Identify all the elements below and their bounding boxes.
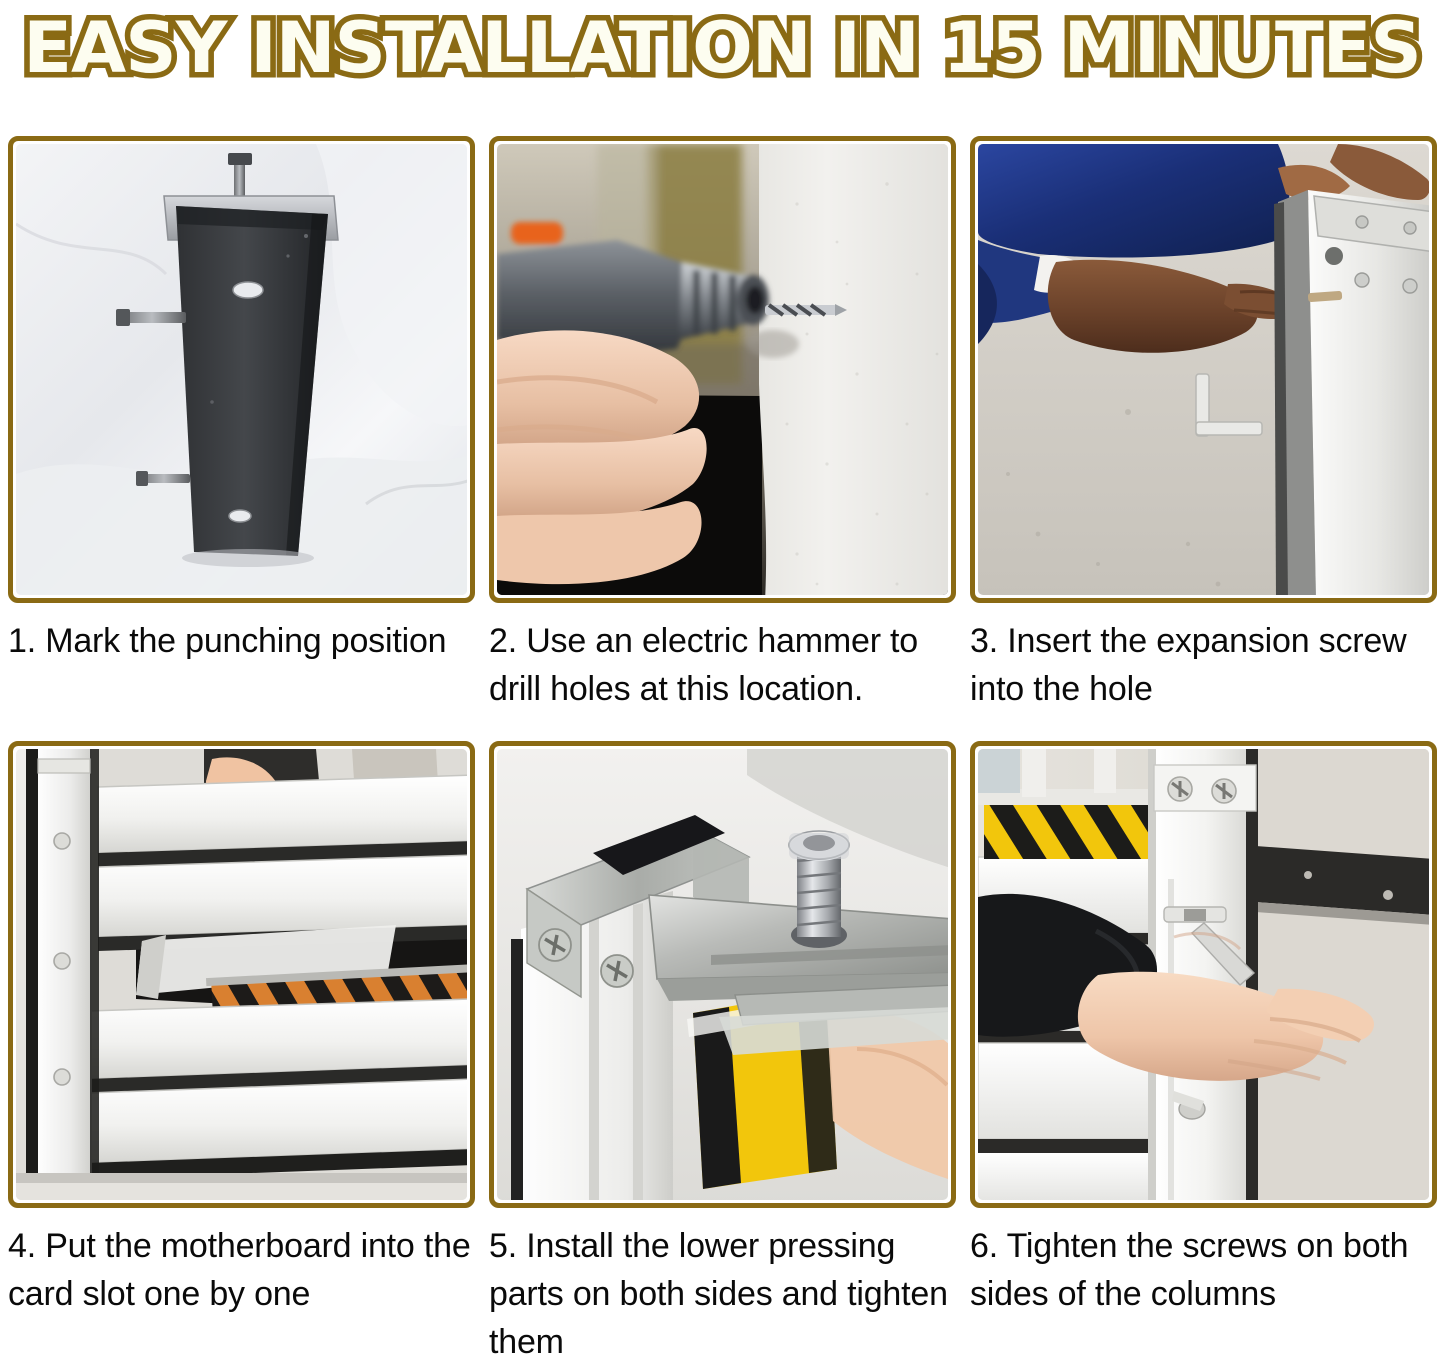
step-caption-2: 2. Use an electric hammer to drill holes… [489,617,956,713]
step-card-4: 4. Put the motherboard into the card slo… [8,741,475,1366]
step-caption-3: 3. Insert the expansion screw into the h… [970,617,1437,713]
scene-card-slot [16,749,467,1200]
step-card-1: 1. Mark the punching position [8,136,475,713]
step-caption-1: 1. Mark the punching position [8,617,475,665]
scene-tighten-screws [978,749,1429,1200]
steps-grid: 1. Mark the punching position [8,136,1437,1366]
step-card-2: 2. Use an electric hammer to drill holes… [489,136,956,713]
step-caption-5: 5. Install the lower pressing parts on b… [489,1222,956,1366]
step-card-3: 3. Insert the expansion screw into the h… [970,136,1437,713]
steps-row-bottom: 4. Put the motherboard into the card slo… [8,741,1437,1366]
scene-drill-holes [497,144,948,595]
step-photo-2 [489,136,956,603]
step-photo-6 [970,741,1437,1208]
step-photo-3 [970,136,1437,603]
step-caption-4: 4. Put the motherboard into the card slo… [8,1222,475,1318]
steps-row-top: 1. Mark the punching position [8,136,1437,713]
step-photo-4 [8,741,475,1208]
page-title: EASY INSTALLATION IN 15 MINUTES [24,12,1421,84]
scene-pressing-parts [497,749,948,1200]
step-card-5: 5. Install the lower pressing parts on b… [489,741,956,1366]
step-card-6: 6. Tighten the screws on both sides of t… [970,741,1437,1366]
step-caption-6: 6. Tighten the screws on both sides of t… [970,1222,1437,1318]
page-title-banner: EASY INSTALLATION IN 15 MINUTES [0,0,1445,96]
step-photo-1 [8,136,475,603]
scene-expansion-screw [978,144,1429,595]
step-photo-5 [489,741,956,1208]
installation-guide-page: EASY INSTALLATION IN 15 MINUTES [0,0,1445,1352]
scene-mark-punching-position [16,144,467,595]
